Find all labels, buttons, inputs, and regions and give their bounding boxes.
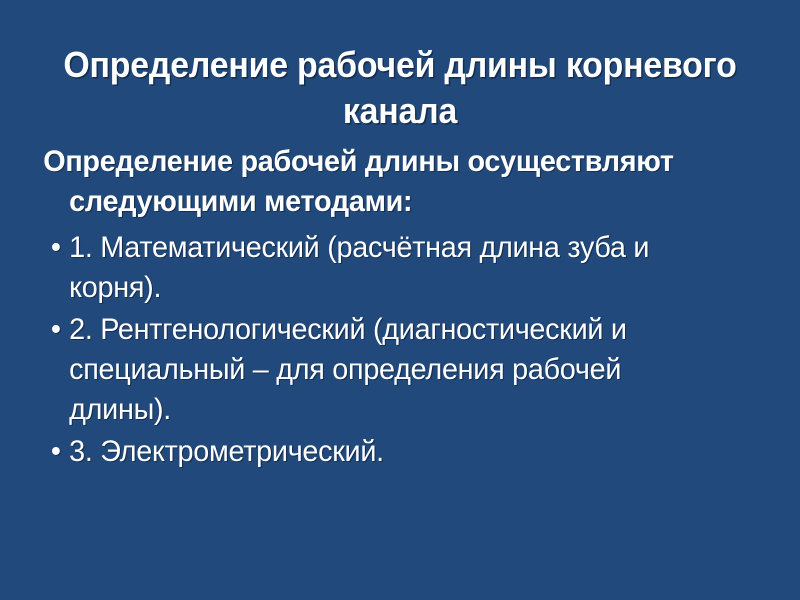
slide-title: Определение рабочей длины корневого кана… — [62, 42, 739, 134]
methods-list: • 1. Математический (расчётная длина зуб… — [0, 228, 800, 472]
list-item-label: 3. Электрометрический. — [69, 432, 728, 472]
list-item: • 1. Математический (расчётная длина зуб… — [0, 228, 768, 308]
bullet-point-icon: • — [51, 310, 64, 350]
slide-body: Определение рабочей длины осуществляют с… — [0, 142, 800, 474]
list-item-label: 1. Математический (расчётная длина зуба … — [69, 228, 728, 308]
lead-paragraph: Определение рабочей длины осуществляют с… — [0, 142, 768, 222]
presentation-slide: Определение рабочей длины корневого кана… — [0, 0, 800, 600]
list-item: • 3. Электрометрический. — [0, 432, 768, 472]
list-item: • 2. Рентгенологический (диагностический… — [0, 310, 768, 430]
list-item-label: 2. Рентгенологический (диагностический и… — [69, 310, 728, 430]
bullet-point-icon: • — [51, 432, 64, 472]
bullet-point-icon: • — [51, 228, 64, 268]
